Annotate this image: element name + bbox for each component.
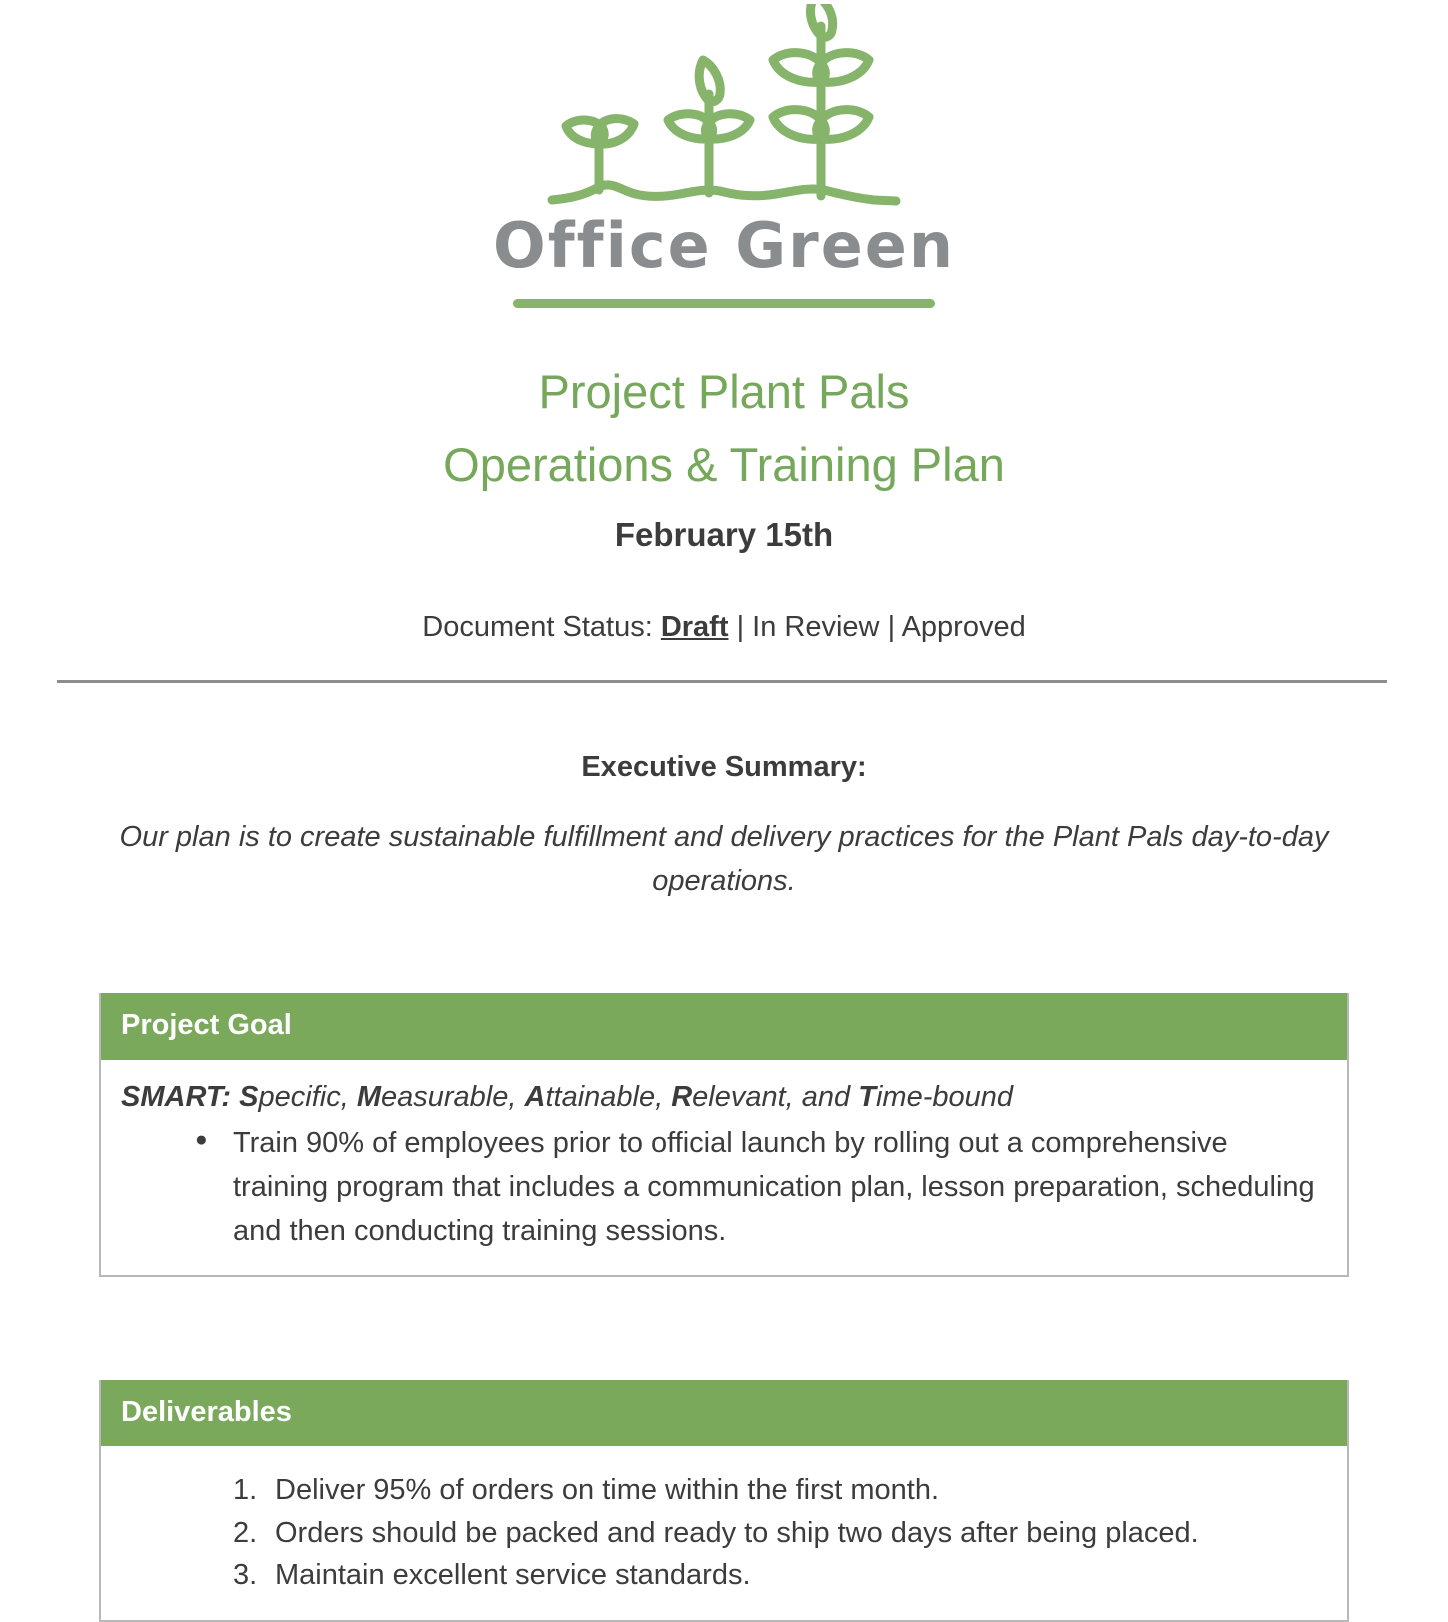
document-status-line: Document Status: Draft | In Review | App… [0, 609, 1448, 647]
status-option-approved[interactable]: Approved [902, 611, 1026, 643]
three-plants-sprout-icon [544, 4, 904, 209]
document-status-label: Document Status: [422, 611, 653, 643]
page-title-line-2: Operations & Training Plan [80, 429, 1368, 502]
deliverables-numbered-list: Deliver 95% of orders on time within the… [121, 1470, 1327, 1596]
smart-prefix: SMART: [121, 1081, 231, 1113]
brand-wordmark: Office Green [493, 215, 955, 277]
status-separator-2: | [888, 611, 896, 643]
brand-underline-bar [513, 299, 935, 308]
project-goal-bullet-list: Train 90% of employees prior to official… [121, 1121, 1327, 1253]
smart-term-specific: Specific, [239, 1081, 349, 1113]
document-page: Office Green Project Plant Pals Operatio… [0, 0, 1448, 1622]
deliverables-header: Deliverables [101, 1380, 1347, 1446]
status-option-draft[interactable]: Draft [661, 611, 729, 643]
page-title: Project Plant Pals Operations & Training… [0, 356, 1448, 502]
smart-term-relevant: Relevant, and [671, 1081, 850, 1113]
executive-summary-body: Our plan is to create sustainable fulfil… [54, 816, 1394, 903]
list-item: Orders should be packed and ready to shi… [233, 1513, 1327, 1554]
project-goal-body: SMART: Specific, Measurable, Attainable,… [101, 1060, 1347, 1275]
deliverables-section: Deliverables Deliver 95% of orders on ti… [99, 1380, 1349, 1622]
smart-term-measurable: Measurable, [357, 1081, 517, 1113]
status-option-in-review[interactable]: In Review [752, 611, 879, 643]
deliverables-body: Deliver 95% of orders on time within the… [101, 1446, 1347, 1620]
smart-definition-line: SMART: Specific, Measurable, Attainable,… [121, 1078, 1327, 1117]
header-divider [57, 680, 1387, 683]
list-item: Maintain excellent service standards. [233, 1555, 1327, 1596]
deliverables-section-wrap: Deliverables Deliver 95% of orders on ti… [0, 1380, 1448, 1622]
smart-term-timebound: Time-bound [858, 1081, 1013, 1113]
page-title-line-1: Project Plant Pals [80, 356, 1368, 429]
project-goal-section: Project Goal SMART: Specific, Measurable… [99, 993, 1349, 1277]
list-item: Deliver 95% of orders on time within the… [233, 1470, 1327, 1511]
brand-logo-block: Office Green [0, 0, 1448, 308]
smart-term-attainable: Attainable, [525, 1081, 664, 1113]
project-goal-header: Project Goal [101, 993, 1347, 1059]
document-date: February 15th [0, 514, 1448, 557]
project-goal-section-wrap: Project Goal SMART: Specific, Measurable… [0, 993, 1448, 1277]
status-separator-1: | [737, 611, 745, 643]
list-item: Train 90% of employees prior to official… [195, 1121, 1327, 1253]
executive-summary-heading: Executive Summary: [0, 751, 1448, 784]
